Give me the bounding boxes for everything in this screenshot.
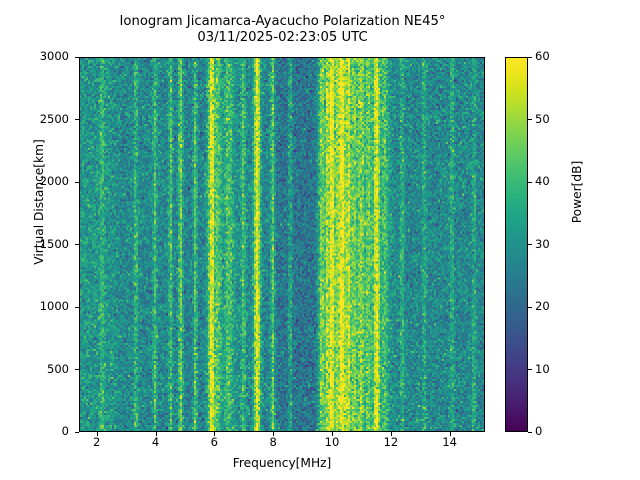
colorbar-tick-mark [528,119,532,120]
colorbar-tick-mark [528,432,532,433]
x-axis-tick-label: 6 [194,437,234,449]
x-axis-tick-label: 14 [430,437,470,449]
y-axis-tick-label: 0 [9,426,69,438]
y-axis-tick-label: 2500 [9,114,69,126]
colorbar-tick-label: 10 [535,364,550,376]
y-axis-tick-mark [75,369,79,370]
colorbar-tick-mark [528,307,532,308]
colorbar-tick-mark [528,244,532,245]
colorbar-tick-label: 60 [535,51,550,63]
colorbar-tick-label: 50 [535,114,550,126]
colorbar-label: Power[dB] [570,102,584,282]
x-axis-tick-label: 4 [136,437,176,449]
colorbar-tick-mark [528,57,532,58]
heatmap-axes [79,57,485,432]
colorbar-tick-mark [528,369,532,370]
x-axis-tick-label: 8 [253,437,293,449]
colorbar-tick-label: 0 [535,426,542,438]
y-axis-tick-label: 3000 [9,51,69,63]
x-axis-tick-label: 2 [77,437,117,449]
x-axis-label: Frequency[MHz] [79,456,485,470]
y-axis-tick-label: 1500 [9,239,69,251]
y-axis-tick-mark [75,432,79,433]
y-axis-tick-mark [75,57,79,58]
y-axis-tick-label: 500 [9,364,69,376]
y-axis-tick-label: 2000 [9,176,69,188]
colorbar-tick-label: 30 [535,239,550,251]
colorbar [505,57,528,432]
page-title: Ionogram Jicamarca-Ayacucho Polarization… [0,14,565,46]
colorbar-gradient [506,58,528,432]
x-axis-tick-label: 10 [312,437,352,449]
y-axis-tick-mark [75,119,79,120]
colorbar-tick-label: 40 [535,176,550,188]
colorbar-tick-label: 20 [535,301,550,313]
y-axis-tick-mark [75,307,79,308]
x-axis-tick-label: 12 [371,437,411,449]
y-axis-tick-label: 1000 [9,301,69,313]
ionogram-heatmap [80,58,485,432]
y-axis-tick-mark [75,182,79,183]
colorbar-tick-mark [528,182,532,183]
ionogram-figure: Ionogram Jicamarca-Ayacucho Polarization… [0,0,640,480]
y-axis-tick-mark [75,244,79,245]
